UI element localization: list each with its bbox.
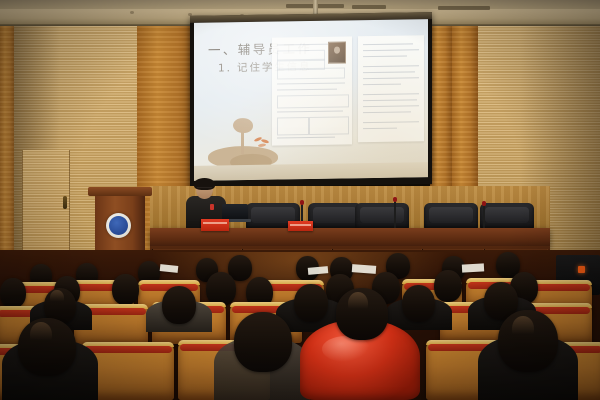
stage-chair[interactable] — [424, 203, 478, 230]
stage-chair[interactable] — [480, 203, 534, 230]
ceiling-vent-slot — [352, 5, 386, 9]
ceiling-vent-slot — [438, 6, 490, 10]
stage-head-table — [150, 228, 550, 248]
glasses-icon — [197, 187, 212, 192]
stage-chair[interactable] — [355, 203, 409, 230]
wood-panel-column-right-b — [452, 26, 478, 206]
form-id-photo — [328, 41, 346, 63]
audience-head — [294, 284, 328, 322]
wood-panel-column-right-a — [430, 26, 452, 206]
audience-head — [206, 272, 236, 306]
screen-surface: 一、辅导员工作 1. 记住学生信息 — [194, 19, 428, 181]
audience-head — [434, 270, 462, 302]
audience-head-foreground — [234, 312, 292, 372]
podium-top-surface — [88, 187, 152, 196]
university-emblem — [106, 213, 131, 238]
audience-head — [162, 286, 196, 324]
speaker-badge — [210, 204, 214, 210]
auditorium-photo: 一、辅导员工作 1. 记住学生信息 — [0, 0, 600, 400]
handout-paper — [462, 263, 484, 272]
slide-bird-decoration — [254, 138, 272, 148]
projection-screen: 一、辅导员工作 1. 记住学生信息 — [190, 12, 432, 188]
ceiling-light-fixture — [130, 11, 134, 14]
red-nameplate-speaker — [201, 219, 229, 231]
audience-head — [112, 274, 139, 305]
red-nameplate — [288, 221, 313, 231]
presenter-laptop[interactable] — [222, 204, 248, 220]
status-indicator-light — [578, 266, 585, 273]
slide-document-text — [358, 35, 424, 142]
audience-head-foreground — [18, 318, 76, 376]
door-handle[interactable] — [63, 196, 67, 209]
desk-microphone — [483, 204, 485, 229]
slide-bottom-band — [194, 162, 428, 181]
desk-microphone — [394, 200, 396, 229]
audience-head — [0, 278, 26, 308]
audience-head — [402, 285, 435, 322]
stage-chair[interactable] — [308, 203, 362, 230]
audience-head-foreground — [336, 288, 388, 340]
wood-panel-column-far-left — [0, 26, 14, 280]
handout-paper — [352, 264, 376, 274]
audience-head-foreground — [498, 310, 558, 372]
